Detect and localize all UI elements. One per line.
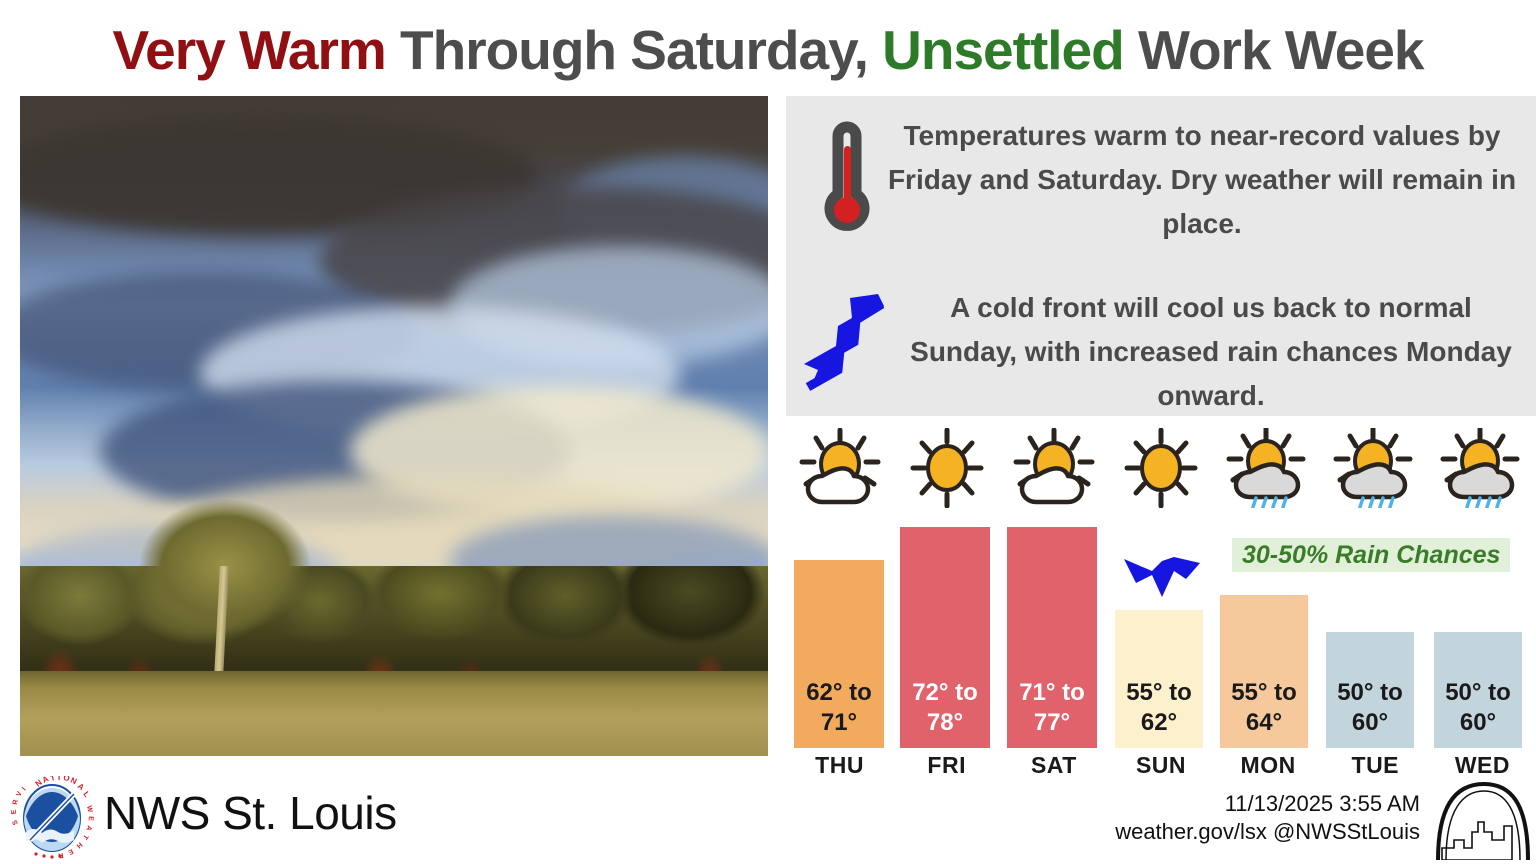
- svg-text:E: E: [87, 816, 94, 822]
- svg-text:E: E: [67, 847, 74, 855]
- summary-text-cold-front: A cold front will cool us back to normal…: [896, 286, 1526, 418]
- rain-sun-icon: [1434, 428, 1530, 513]
- temperature-bar-fri: 72° to 78°: [900, 527, 990, 748]
- footer-info: 11/13/2025 3:55 AM weather.gov/lsx @NWSS…: [1080, 790, 1420, 846]
- day-label-row: THU FRI SAT SUN MON TUE WED: [786, 752, 1536, 782]
- gateway-arch-icon: [1424, 782, 1532, 860]
- bar-label-line2: 62°: [1141, 708, 1177, 738]
- bar-label-line1: 72° to: [912, 678, 978, 708]
- bar-label-line1: 50° to: [1445, 678, 1511, 708]
- weather-icon-cell-mon: [1215, 424, 1322, 516]
- svg-text:A: A: [76, 781, 86, 792]
- svg-text:T: T: [80, 833, 89, 841]
- bar-label-line2: 60°: [1460, 708, 1496, 738]
- weather-icon-cell-thu: [786, 424, 893, 516]
- temperature-bar-wed: 50° to 60°: [1434, 632, 1522, 748]
- bar-label-line1: 71° to: [1019, 678, 1085, 708]
- day-label-fri: FRI: [893, 752, 1000, 782]
- day-label-mon: MON: [1215, 752, 1322, 782]
- day-label-wed: WED: [1429, 752, 1536, 782]
- bar-label-line1: 55° to: [1126, 678, 1192, 708]
- weather-icon-cell-sun: [1107, 424, 1214, 516]
- svg-text:A: A: [84, 824, 92, 831]
- day-label-sun: SUN: [1107, 752, 1214, 782]
- grass-field: [20, 671, 768, 756]
- sunny-icon: [1113, 428, 1209, 513]
- weather-graphic: Very Warm Through Saturday, Unsettled Wo…: [0, 0, 1536, 864]
- nws-seal-logo: N A T I O N A L W E A T H E R S E R V: [8, 776, 96, 860]
- temperature-bar-sat: 71° to 77°: [1007, 527, 1097, 748]
- rain-chances-badge: 30-50% Rain Chances: [1232, 538, 1510, 572]
- day-label-thu: THU: [786, 752, 893, 782]
- svg-text:T: T: [49, 776, 56, 783]
- svg-text:N: N: [69, 776, 78, 786]
- temperature-bar-thu: 62° to 71°: [794, 560, 884, 748]
- title-segment-workweek: Work Week: [1124, 19, 1424, 81]
- cold-front-icon-sun: [1122, 553, 1202, 599]
- partly-cloudy-icon: [1006, 428, 1102, 513]
- bar-label-line1: 62° to: [806, 678, 872, 708]
- svg-text:I: I: [21, 786, 28, 792]
- weather-icon-cell-tue: [1322, 424, 1429, 516]
- bar-label-line1: 55° to: [1231, 678, 1297, 708]
- thermometer-icon: [816, 118, 878, 238]
- title-segment-warm: Very Warm: [112, 19, 385, 81]
- svg-text:V: V: [15, 790, 23, 797]
- svg-text:E: E: [11, 809, 18, 815]
- footer-web-social: weather.gov/lsx @NWSStLouis: [1080, 818, 1420, 846]
- svg-text:W: W: [85, 805, 93, 813]
- bar-label-line2: 77°: [1034, 708, 1070, 738]
- svg-text:R: R: [12, 799, 20, 805]
- forecast-summary-panel: Temperatures warm to near-record values …: [786, 96, 1536, 416]
- partly-cloudy-icon: [792, 428, 888, 513]
- temperature-bar-tue: 50° to 60°: [1326, 632, 1414, 748]
- day-label-tue: TUE: [1322, 752, 1429, 782]
- summary-row-cold-front: A cold front will cool us back to normal…: [796, 286, 1526, 418]
- cold-front-icon: [796, 292, 896, 397]
- weather-icon-cell-fri: [893, 424, 1000, 516]
- svg-text:H: H: [75, 840, 83, 849]
- footer-timestamp: 11/13/2025 3:55 AM: [1080, 790, 1420, 818]
- sky-photo: [20, 96, 768, 756]
- bar-label-line2: 60°: [1352, 708, 1388, 738]
- svg-text:L: L: [81, 790, 91, 799]
- temperature-bar-sun: 55° to 62°: [1115, 610, 1203, 748]
- nws-office-name: NWS St. Louis: [104, 786, 397, 840]
- bar-label-line1: 50° to: [1337, 678, 1403, 708]
- svg-text:S: S: [12, 819, 20, 826]
- weather-icon-cell-wed: [1429, 424, 1536, 516]
- temperature-bar-mon: 55° to 64°: [1220, 595, 1308, 748]
- bar-label-line2: 71°: [821, 708, 857, 738]
- title-segment-unsettled: Unsettled: [882, 19, 1124, 81]
- summary-row-temperature: Temperatures warm to near-record values …: [816, 114, 1526, 246]
- bar-label-line2: 78°: [927, 708, 963, 738]
- sunny-icon: [899, 428, 995, 513]
- weather-icon-cell-sat: [1000, 424, 1107, 516]
- day-label-sat: SAT: [1000, 752, 1107, 782]
- rain-sun-icon: [1327, 428, 1423, 513]
- weather-icon-row: [786, 424, 1536, 516]
- svg-text:I: I: [58, 776, 61, 782]
- rain-sun-icon: [1220, 428, 1316, 513]
- title-segment-through: Through Saturday,: [386, 19, 882, 81]
- page-title: Very Warm Through Saturday, Unsettled Wo…: [0, 14, 1536, 86]
- summary-text-temperature: Temperatures warm to near-record values …: [878, 114, 1526, 246]
- bar-label-line2: 64°: [1246, 708, 1282, 738]
